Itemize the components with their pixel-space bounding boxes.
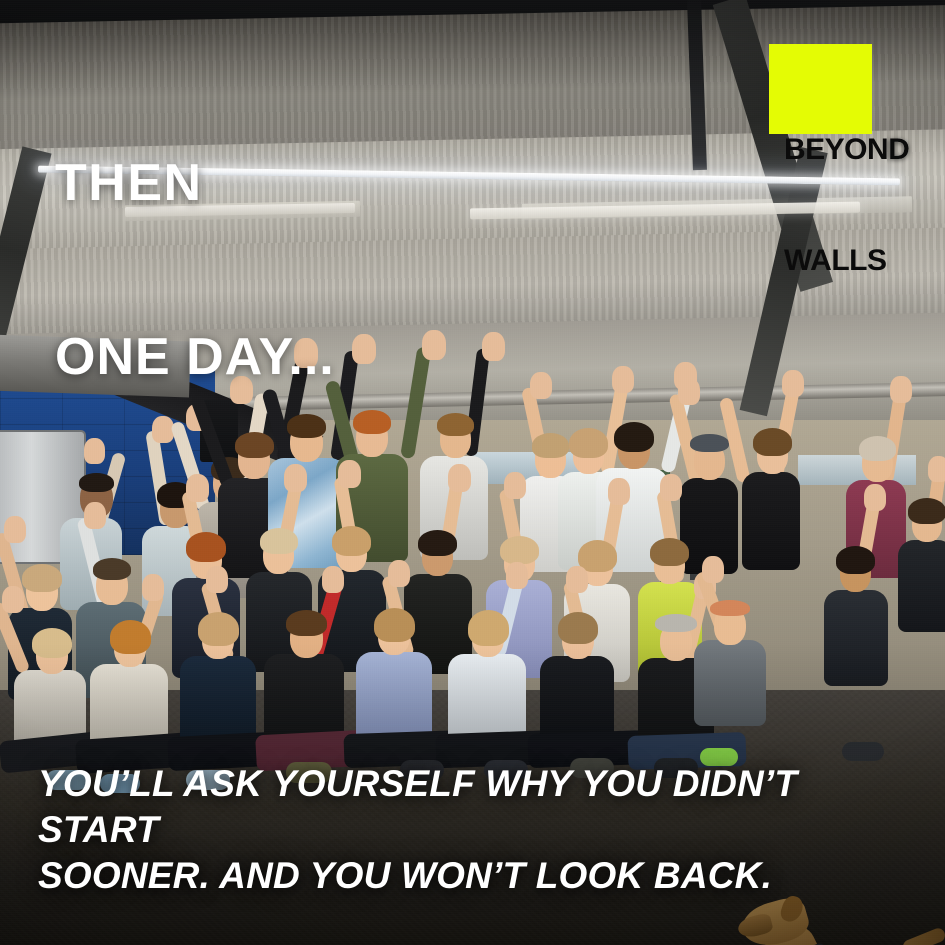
tagline-line-2: SOONER. AND YOU WON’T LOOK BACK.	[38, 853, 918, 899]
poster: THEN ONE DAY... BEYOND WALLS BEYOND WALL…	[0, 0, 945, 945]
logo-wordmark-inside: BEYOND WALLS	[784, 57, 945, 353]
logo-line-2: WALLS	[784, 242, 945, 279]
headline-line-1: THEN	[55, 154, 335, 212]
headline-line-2: ONE DAY...	[55, 328, 335, 386]
page-title: THEN ONE DAY...	[55, 38, 335, 502]
beyond-walls-logo[interactable]: BEYOND WALLS BEYOND WALLS	[769, 44, 872, 134]
tagline: YOU’LL ASK YOURSELF WHY YOU DIDN’T START…	[38, 761, 918, 899]
logo-line-1: BEYOND	[784, 131, 945, 168]
tagline-line-1: YOU’LL ASK YOURSELF WHY YOU DIDN’T START	[38, 761, 918, 853]
shoe	[842, 742, 884, 761]
